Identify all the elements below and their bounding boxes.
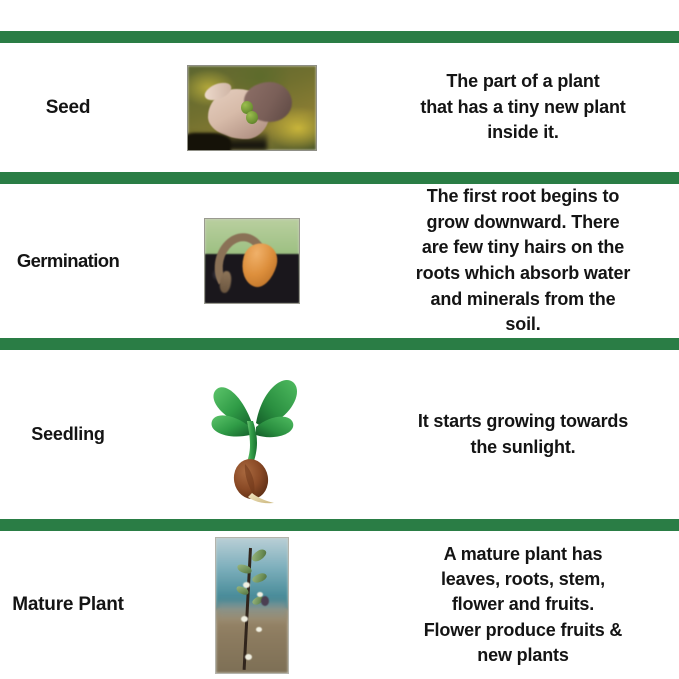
stage-label: Seedling [29,423,106,446]
table-row: Mature Plant A mature pla [0,531,679,679]
stage-description: The first root begins to grow downward. … [402,184,644,337]
stage-label: Germination [15,249,121,272]
sleeve-shape [187,133,232,151]
stage-name-cell: Seedling [0,350,136,519]
grid-line-row2-row3 [0,338,679,350]
seedling-illustration [200,365,304,505]
bud-shape [261,596,269,606]
table-row: Germination The first root begins to gro… [0,184,679,338]
stage-image-cell [136,531,367,679]
stage-name-cell: Germination [0,184,136,338]
grid-line-row1-row2 [0,172,679,184]
stage-description-cell: The part of a plant that has a tiny new … [367,43,679,172]
stage-description: A mature plant has leaves, roots, stem, … [410,542,637,668]
stage-name-cell: Mature Plant [0,531,136,679]
stage-label: Mature Plant [10,593,126,617]
stage-description-cell: The first root begins to grow downward. … [367,184,679,338]
stage-label: Seed [44,96,93,120]
stage-description-cell: A mature plant has leaves, roots, stem, … [367,531,679,679]
grid-line-row3-row4 [0,519,679,531]
flower-shape [243,582,250,588]
stage-name-cell: Seed [0,43,136,172]
flower-shape [256,627,262,632]
stage-description: It starts growing towards the sunlight. [404,409,642,460]
stage-image-cell [136,43,367,172]
horizon-haze [216,602,288,621]
grid-line-top [0,31,679,43]
stage-image-cell [136,184,367,338]
stage-image-cell [136,350,367,519]
mature-plant-photo [215,537,289,674]
germinating-seed-photo [204,218,300,304]
plant-life-cycle-table: Seed The part of a plant that has a tiny… [0,0,679,679]
table-row: Seed The part of a plant that has a tiny… [0,43,679,172]
hand-holding-seeds-photo [187,65,317,151]
table-row: Seedling [0,350,679,519]
stage-description: The part of a plant that has a tiny new … [406,69,639,146]
stage-description-cell: It starts growing towards the sunlight. [367,350,679,519]
flower-shape [257,592,263,597]
flower-shape [245,654,252,660]
